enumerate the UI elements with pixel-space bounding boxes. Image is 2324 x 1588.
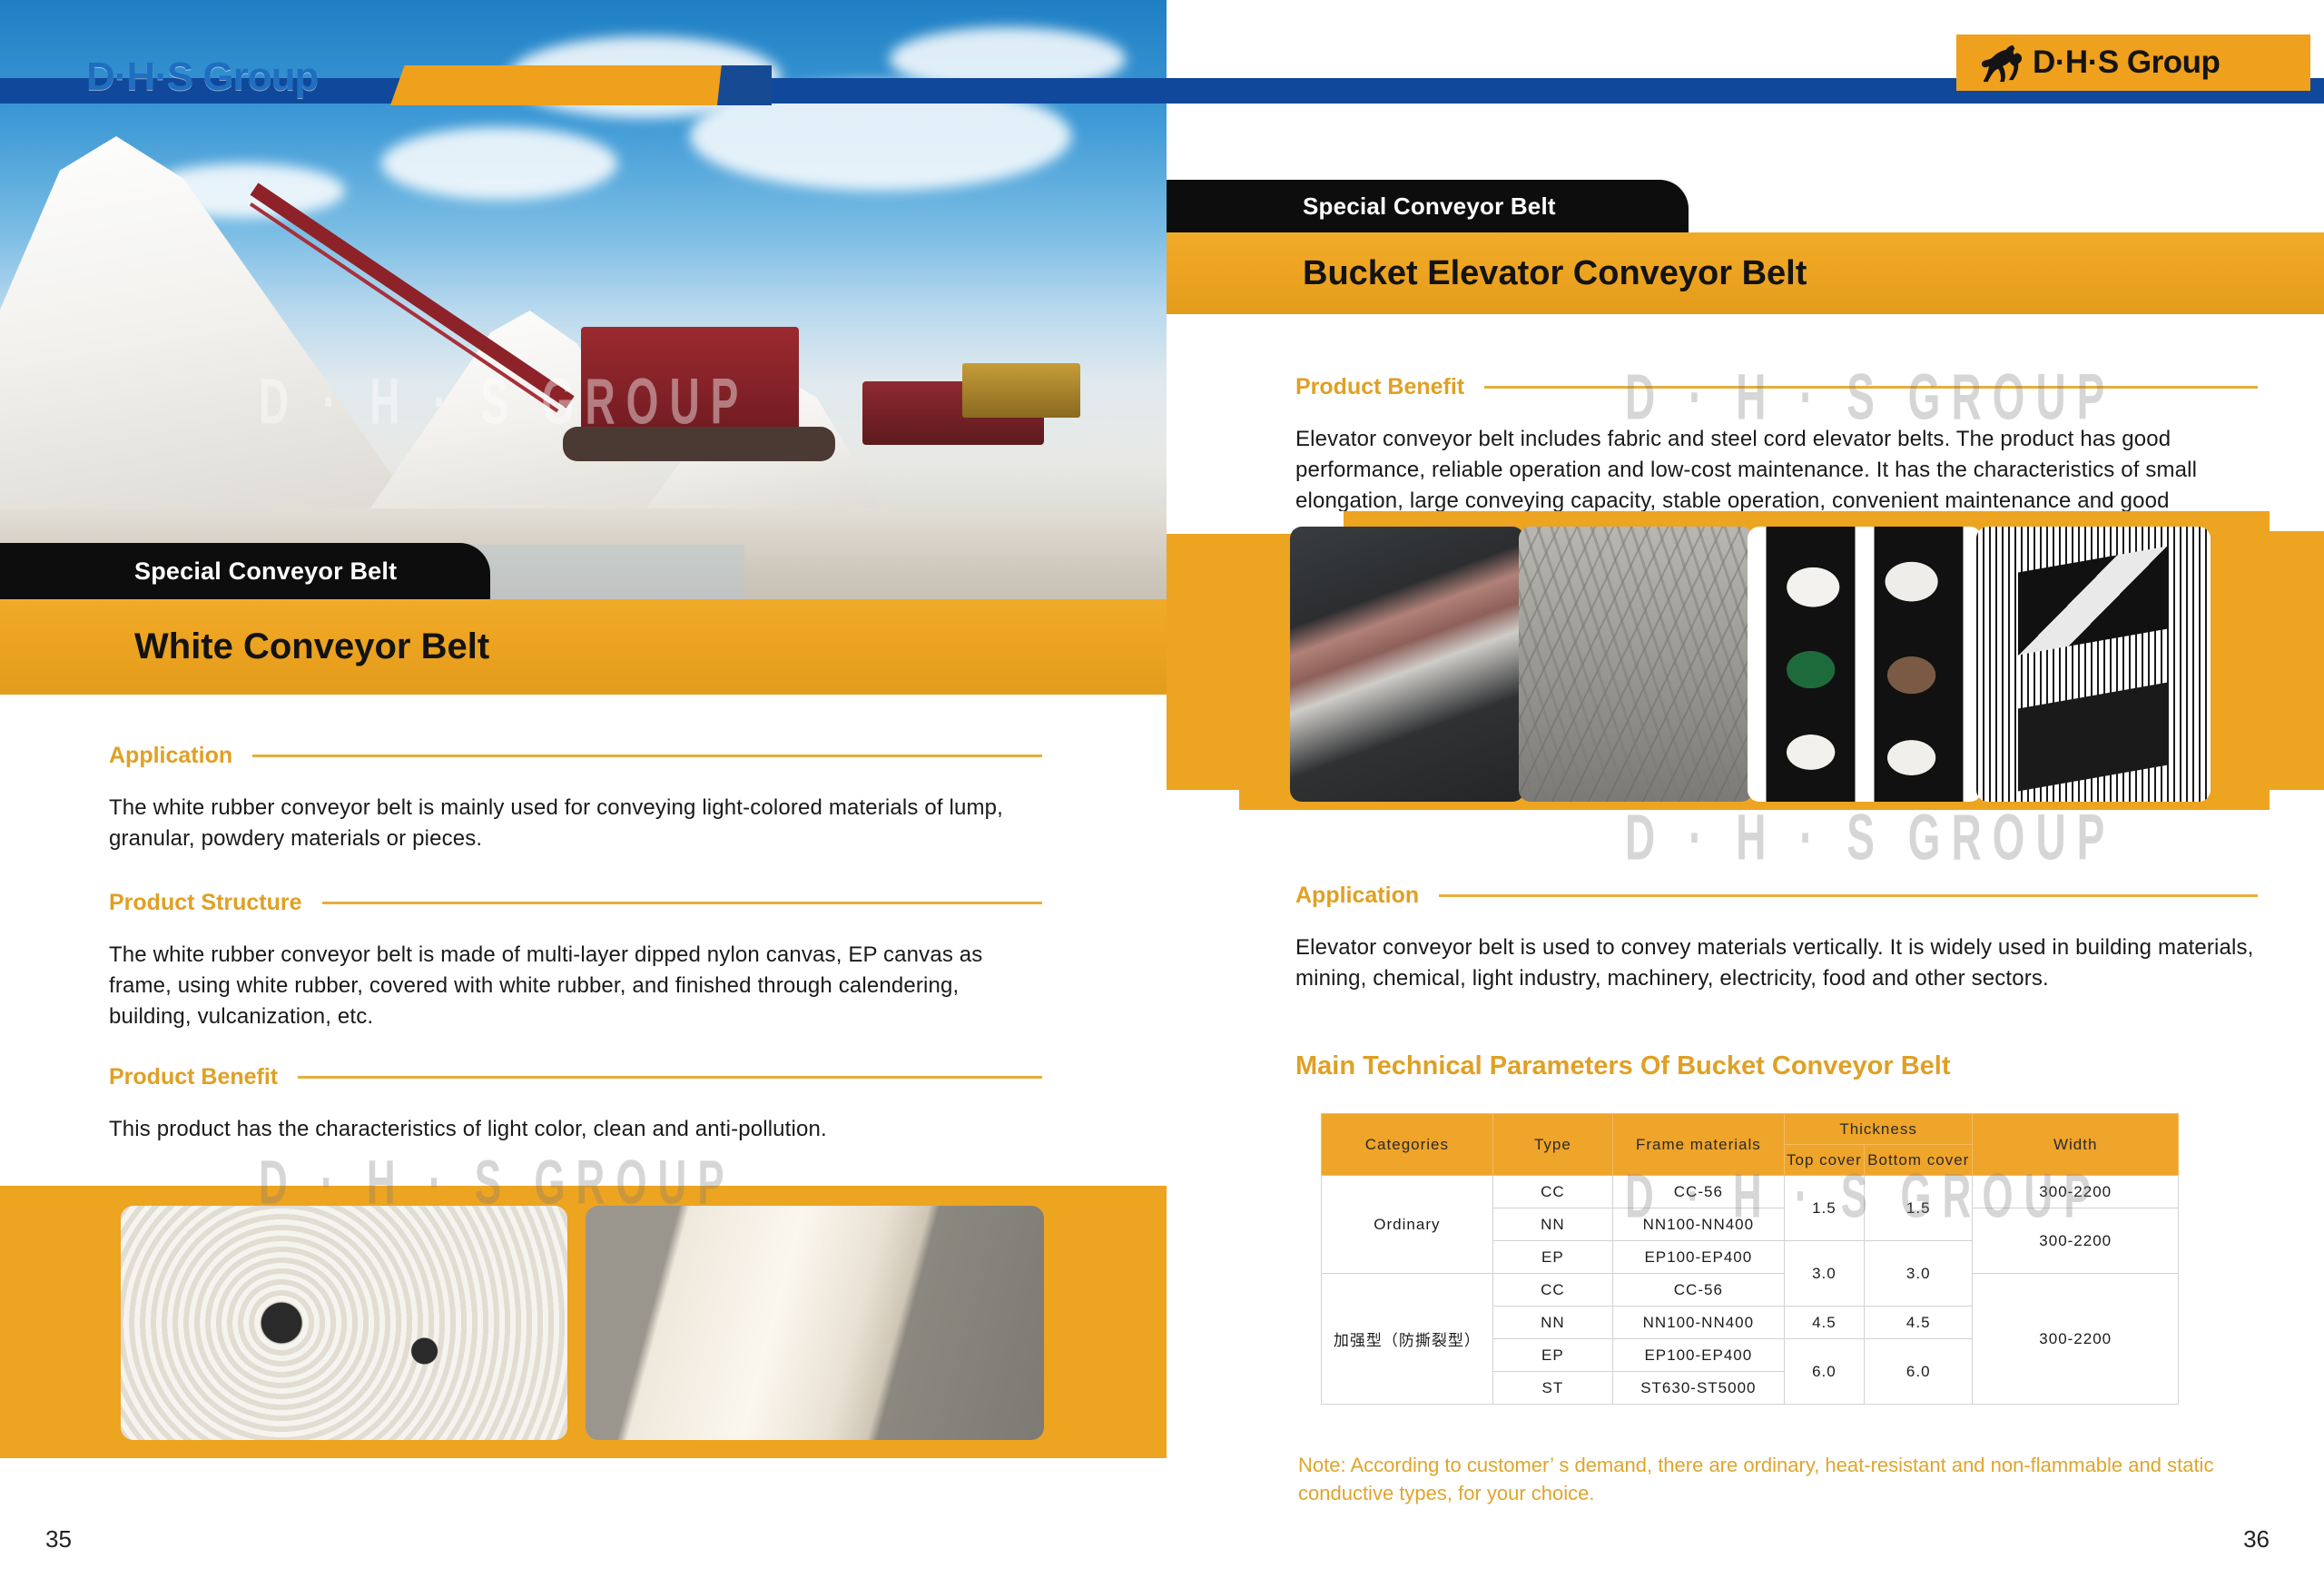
cell-top-cover: 3.0 — [1784, 1241, 1864, 1307]
cell-category: Ordinary — [1322, 1176, 1493, 1274]
cell-bottom-cover: 6.0 — [1865, 1339, 1973, 1405]
right-page-title: Bucket Elevator Conveyor Belt — [1303, 254, 1807, 293]
section-heading: Application — [109, 743, 232, 769]
left-page: D·H·S Group D · H · S GROUP Special Conv… — [0, 0, 1167, 1588]
section-heading: Product Benefit — [1295, 374, 1464, 400]
header-categories: Categories — [1322, 1114, 1493, 1176]
section-heading: Product Benefit — [109, 1064, 278, 1090]
cell-type: NN — [1492, 1307, 1612, 1339]
company-logo-badge: D·H·S Group — [1956, 35, 2310, 91]
page-number-right: 36 — [2243, 1525, 2270, 1553]
section-application-left: Application The white rubber conveyor be… — [109, 743, 1042, 854]
cell-frame: NN100-NN400 — [1612, 1307, 1784, 1339]
header-frame-materials: Frame materials — [1612, 1114, 1784, 1176]
right-photo-bucket-drawing — [1976, 527, 2211, 802]
header-blue-accent — [717, 65, 772, 105]
left-photo-belt-rolls — [121, 1206, 567, 1440]
section-body: This product has the characteristics of … — [109, 1114, 1042, 1145]
section-heading-row: Product Benefit — [109, 1064, 1042, 1090]
header-bottom-cover: Bottom cover — [1865, 1145, 1973, 1176]
cell-type: EP — [1492, 1241, 1612, 1274]
left-page-title-band: White Conveyor Belt — [0, 599, 1167, 695]
page-number-left: 35 — [45, 1525, 72, 1553]
right-photo-elevator-plant — [1519, 527, 1753, 802]
section-body: The white rubber conveyor belt is mainly… — [109, 793, 1042, 854]
cell-type: CC — [1492, 1176, 1612, 1208]
section-rule — [1484, 386, 2258, 389]
section-body: The white rubber conveyor belt is made o… — [109, 940, 1042, 1032]
section-rule — [252, 755, 1042, 757]
left-tab-label: Special Conveyor Belt — [134, 557, 397, 586]
right-photo-bucket-closeup — [1290, 527, 1524, 802]
spec-table-body: Ordinary CC CC-56 1.5 1.5 300-2200 NN NN… — [1322, 1176, 2179, 1405]
cell-type: ST — [1492, 1372, 1612, 1405]
section-rule — [322, 902, 1042, 904]
left-page-category-tab: Special Conveyor Belt — [0, 543, 490, 599]
cell-top-cover: 4.5 — [1784, 1307, 1864, 1339]
left-photo-belt-sheet — [586, 1206, 1044, 1440]
cell-frame: ST630-ST5000 — [1612, 1372, 1784, 1405]
header-type: Type — [1492, 1114, 1612, 1176]
section-heading: Application — [1295, 883, 1419, 909]
cell-bottom-cover: 1.5 — [1865, 1176, 1973, 1241]
horse-icon — [1974, 42, 2031, 84]
spec-table-note: Note: According to customer’ s demand, t… — [1298, 1451, 2270, 1507]
cell-type: NN — [1492, 1208, 1612, 1241]
header-orange-accent — [390, 65, 744, 105]
section-application-right: Application Elevator conveyor belt is us… — [1295, 883, 2258, 994]
cell-top-cover: 1.5 — [1784, 1176, 1864, 1241]
cell-type: CC — [1492, 1274, 1612, 1307]
cell-type: EP — [1492, 1339, 1612, 1372]
section-body: Elevator conveyor belt is used to convey… — [1295, 932, 2258, 994]
cell-top-cover: 6.0 — [1784, 1339, 1864, 1405]
section-heading: Product Structure — [109, 890, 302, 916]
header-top-cover: Top cover — [1784, 1145, 1864, 1176]
spec-table: Categories Type Frame materials Thicknes… — [1321, 1113, 2179, 1405]
cell-width: 300-2200 — [1973, 1176, 2179, 1208]
cell-frame: CC-56 — [1612, 1176, 1784, 1208]
table-header-row: Categories Type Frame materials Thicknes… — [1322, 1114, 2179, 1145]
table-row: Ordinary CC CC-56 1.5 1.5 300-2200 — [1322, 1176, 2179, 1208]
section-rule — [298, 1076, 1042, 1079]
cell-frame: EP100-EP400 — [1612, 1241, 1784, 1274]
spec-table-title: Main Technical Parameters Of Bucket Conv… — [1295, 1051, 1950, 1081]
spec-table-container: Categories Type Frame materials Thicknes… — [1321, 1113, 2179, 1405]
section-heading-row: Application — [1295, 883, 2258, 909]
section-heading-row: Product Benefit — [1295, 374, 2258, 400]
section-heading-row: Application — [109, 743, 1042, 769]
cell-bottom-cover: 3.0 — [1865, 1241, 1973, 1307]
header-width: Width — [1973, 1114, 2179, 1176]
catalog-spread: D·H·S Group D · H · S GROUP Special Conv… — [0, 0, 2324, 1588]
section-heading-row: Product Structure — [109, 890, 1042, 916]
spec-table-head: Categories Type Frame materials Thicknes… — [1322, 1114, 2179, 1176]
watermark: D · H · S GROUP — [1625, 799, 2115, 875]
cell-frame: EP100-EP400 — [1612, 1339, 1784, 1372]
section-product-benefit-left: Product Benefit This product has the cha… — [109, 1064, 1042, 1145]
cell-frame: CC-56 — [1612, 1274, 1784, 1307]
logo-badge-text: D·H·S Group — [2033, 44, 2220, 81]
cell-frame: NN100-NN400 — [1612, 1208, 1784, 1241]
section-rule — [1439, 894, 2258, 897]
cell-bottom-cover: 4.5 — [1865, 1307, 1973, 1339]
section-product-structure-left: Product Structure The white rubber conve… — [109, 890, 1042, 1032]
table-row: 加强型（防撕裂型） CC CC-56 300-2200 — [1322, 1274, 2179, 1307]
cell-width: 300-2200 — [1973, 1274, 2179, 1405]
cell-width: 300-2200 — [1973, 1208, 2179, 1274]
right-page-category-tab: Special Conveyor Belt — [1167, 180, 1689, 232]
right-tab-label: Special Conveyor Belt — [1303, 192, 1556, 221]
left-page-title: White Conveyor Belt — [134, 626, 489, 667]
cell-category: 加强型（防撕裂型） — [1322, 1274, 1493, 1405]
right-photo-buckets — [1748, 527, 1982, 802]
right-page-title-band: Bucket Elevator Conveyor Belt — [1167, 232, 2324, 314]
brand-wordmark: D·H·S Group — [86, 54, 318, 100]
header-thickness: Thickness — [1784, 1114, 1973, 1145]
